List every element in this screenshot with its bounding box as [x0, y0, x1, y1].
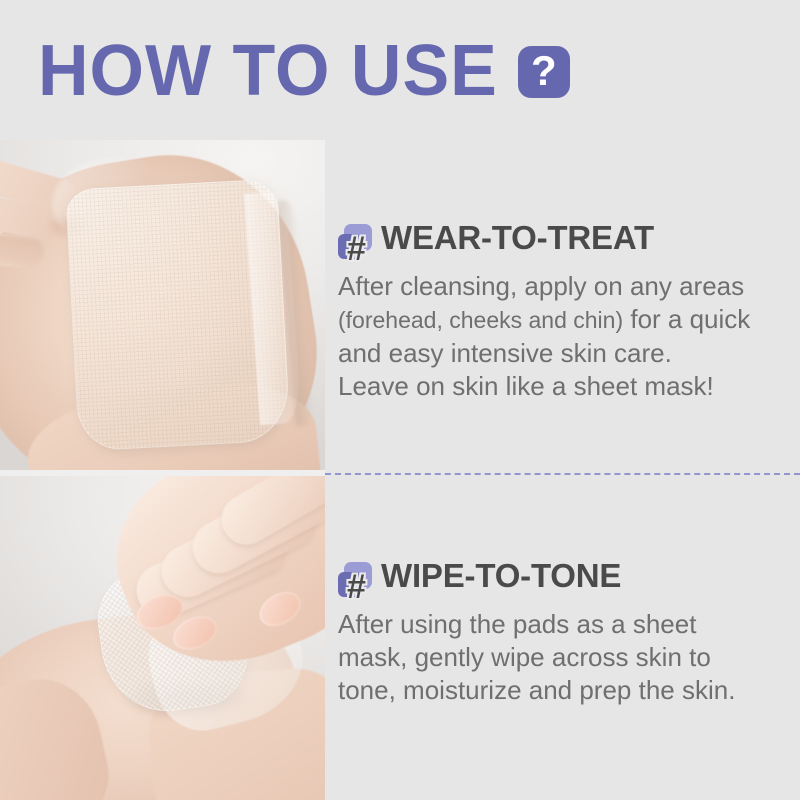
step-heading: WEAR-TO-TREAT: [381, 221, 654, 255]
body-line: After using the pads as a sheet: [338, 608, 790, 641]
page-title: HOW TO USE: [38, 33, 498, 108]
step-wear-to-treat: # WEAR-TO-TREAT After cleansing, apply o…: [338, 210, 790, 403]
page-header: HOW TO USE ?: [38, 34, 570, 106]
question-mark-badge: ?: [518, 46, 570, 98]
step-heading: WIPE-TO-TONE: [381, 559, 621, 593]
body-line: After cleansing, apply on any areas: [338, 270, 790, 303]
hash-symbol: #: [347, 570, 366, 604]
body-line: and easy intensive skin care.: [338, 337, 790, 370]
hash-square-icon: #: [338, 224, 372, 258]
step-heading-row: # WEAR-TO-TREAT: [338, 210, 790, 256]
step-body: After cleansing, apply on any areas (for…: [338, 270, 790, 403]
body-line: Leave on skin like a sheet mask!: [338, 370, 790, 403]
step-heading-row: # WIPE-TO-TONE: [338, 548, 790, 594]
body-line: tone, moisturize and prep the skin.: [338, 674, 790, 707]
step-body: After using the pads as a sheet mask, ge…: [338, 608, 790, 707]
step-wipe-to-tone: # WIPE-TO-TONE After using the pads as a…: [338, 548, 790, 707]
body-line-small: (forehead, cheeks and chin): [338, 307, 623, 333]
hash-symbol: #: [347, 232, 366, 266]
photo-hand-wiping-with-pad: [0, 476, 325, 800]
body-line-suffix: for a quick: [623, 304, 750, 334]
body-line: mask, gently wipe across skin to: [338, 641, 790, 674]
hash-square-icon: #: [338, 562, 372, 596]
question-mark-icon: ?: [518, 46, 570, 98]
body-line: (forehead, cheeks and chin) for a quick: [338, 303, 790, 337]
section-divider: [325, 473, 800, 475]
how-to-use-infographic: HOW TO USE ?: [0, 0, 800, 800]
photo-hand-with-sheet-pad-applied: [0, 140, 325, 470]
